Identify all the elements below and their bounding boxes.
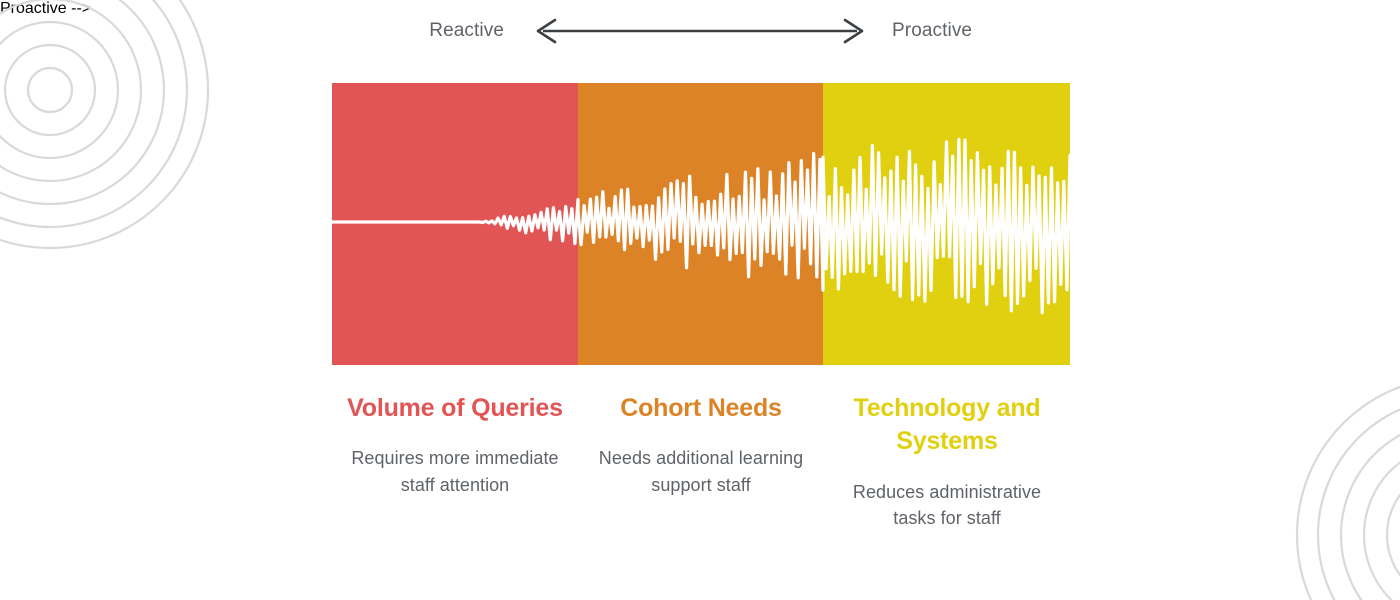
caption-title: Volume of Queries <box>342 392 568 425</box>
caption-cohort-needs: Cohort Needs Needs additional learning s… <box>578 392 824 531</box>
caption-title: Technology and Systems <box>834 392 1060 459</box>
caption-title: Cohort Needs <box>588 392 814 425</box>
caption-body: Needs additional learning support staff <box>588 445 814 498</box>
panel-technology-and-systems[interactable] <box>823 83 1070 365</box>
caption-body: Reduces administrative tasks for staff <box>834 479 1060 532</box>
ring-group <box>1297 377 1400 600</box>
axis-label-reactive: Reactive <box>390 14 530 48</box>
panel-cohort-needs[interactable] <box>578 83 823 365</box>
caption-technology-and-systems: Technology and Systems Reduces administr… <box>824 392 1070 531</box>
spectrum-axis: Reactive Proactive <box>0 14 1400 48</box>
caption-body: Requires more immediate staff attention <box>342 445 568 498</box>
caption-group: Volume of Queries Requires more immediat… <box>332 392 1070 531</box>
double-headed-arrow-icon <box>530 14 870 48</box>
caption-volume-of-queries: Volume of Queries Requires more immediat… <box>332 392 578 531</box>
panel-band-group <box>332 83 1070 365</box>
axis-label-proactive: Proactive <box>870 14 1010 48</box>
panel-volume-of-queries[interactable] <box>332 83 578 365</box>
infographic-canvas: Proactive --> Reactive Proactive Volume … <box>0 0 1400 600</box>
concentric-circles-icon <box>1295 375 1400 600</box>
